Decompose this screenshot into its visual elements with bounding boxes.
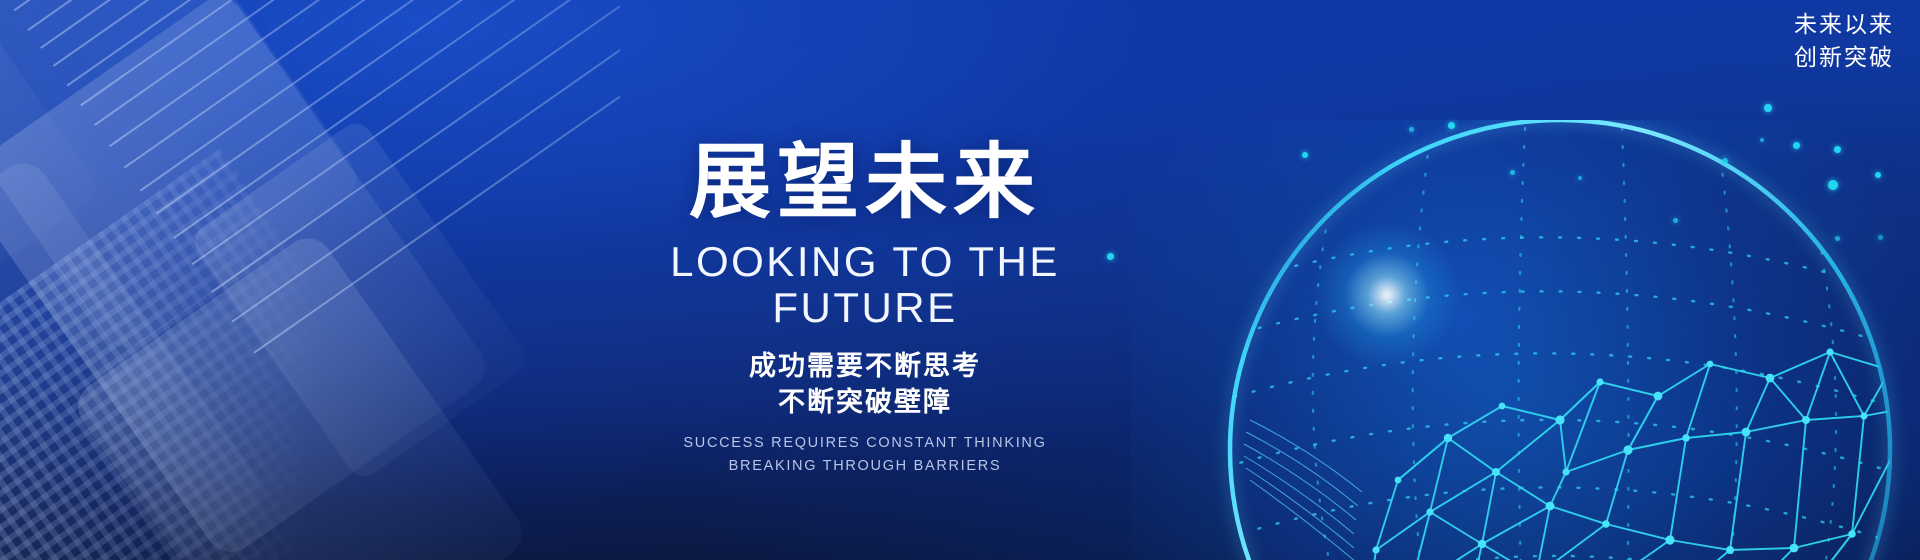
- corner-slogan-line-2: 创新突破: [1794, 41, 1894, 74]
- page-title: 展望未来: [585, 140, 1145, 225]
- corner-slogan: 未来以来 创新突破: [1794, 8, 1894, 73]
- corner-slogan-line-1: 未来以来: [1794, 8, 1894, 41]
- globe-rim-flare: [1312, 220, 1462, 370]
- particle-dot: [1764, 104, 1772, 112]
- subheading-en: SUCCESS REQUIRES CONSTANT THINKING BREAK…: [585, 432, 1145, 479]
- headline-block: 展望未来 LOOKING TO THE FUTURE 成功需要不断思考 不断突破…: [585, 140, 1145, 479]
- promo-banner: 未来以来 创新突破 展望未来 LOOKING TO THE FUTURE 成功需…: [0, 0, 1920, 560]
- subheading-cn-line-1: 成功需要不断思考: [585, 348, 1145, 384]
- subheading-cn-line-2: 不断突破壁障: [585, 384, 1145, 420]
- subheading-en-line-2: BREAKING THROUGH BARRIERS: [585, 455, 1145, 478]
- title-subtitle-en: LOOKING TO THE FUTURE: [585, 239, 1145, 331]
- subheading-en-line-1: SUCCESS REQUIRES CONSTANT THINKING: [585, 432, 1145, 455]
- left-geometric-pattern: [0, 0, 620, 560]
- wireframe-globe: [1130, 120, 1920, 560]
- globe-network-svg: [1130, 120, 1920, 560]
- subheading-cn: 成功需要不断思考 不断突破壁障: [585, 348, 1145, 420]
